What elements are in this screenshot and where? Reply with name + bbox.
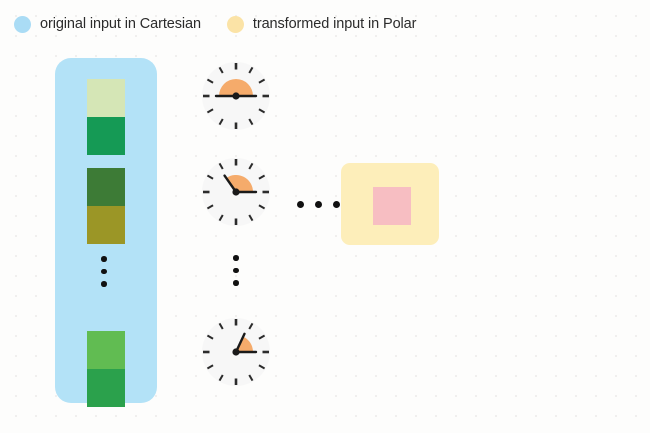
cartesian-input-panel: [55, 58, 157, 403]
ellipsis-dot: [101, 256, 107, 262]
horizontal-ellipsis-icon: [297, 201, 340, 208]
polar-clock-icon-1: [200, 60, 272, 132]
ellipsis-dot: [297, 201, 304, 208]
ellipsis-dot: [233, 280, 239, 286]
legend-item-cartesian: original input in Cartesian: [14, 16, 201, 33]
ellipsis-dot: [233, 255, 239, 261]
cartesian-cell-2-1: [87, 168, 125, 206]
ellipsis-dot: [315, 201, 322, 208]
clock-center-hub: [232, 188, 239, 195]
cartesian-cell-3-2: [87, 369, 125, 407]
cartesian-stack-2: [87, 168, 125, 244]
cartesian-stack-1: [87, 79, 125, 155]
ellipsis-dot: [333, 201, 340, 208]
clock-vertical-ellipsis-icon: [233, 255, 239, 286]
legend-label-polar: transformed input in Polar: [253, 16, 416, 32]
ellipsis-dot: [101, 281, 107, 287]
cartesian-cell-2-2: [87, 206, 125, 244]
legend-label-cartesian: original input in Cartesian: [40, 16, 201, 32]
polar-clock-icon-3: [200, 316, 272, 388]
polar-inner-square: [373, 187, 411, 225]
clock-center-hub: [232, 92, 239, 99]
polar-output-panel: [341, 163, 439, 245]
ellipsis-dot: [101, 269, 107, 275]
cartesian-stack-3: [87, 331, 125, 407]
clock-center-hub: [232, 348, 239, 355]
cartesian-cell-1-2: [87, 117, 125, 155]
cartesian-legend-circle-icon: [14, 16, 31, 33]
cartesian-cell-1-1: [87, 79, 125, 117]
polar-clock-icon-2: [200, 156, 272, 228]
polar-legend-circle-icon: [227, 16, 244, 33]
legend: original input in Cartesian transformed …: [14, 12, 416, 36]
cartesian-vertical-ellipsis-icon: [101, 256, 107, 287]
legend-item-polar: transformed input in Polar: [227, 16, 416, 33]
ellipsis-dot: [233, 268, 239, 274]
cartesian-cell-3-1: [87, 331, 125, 369]
